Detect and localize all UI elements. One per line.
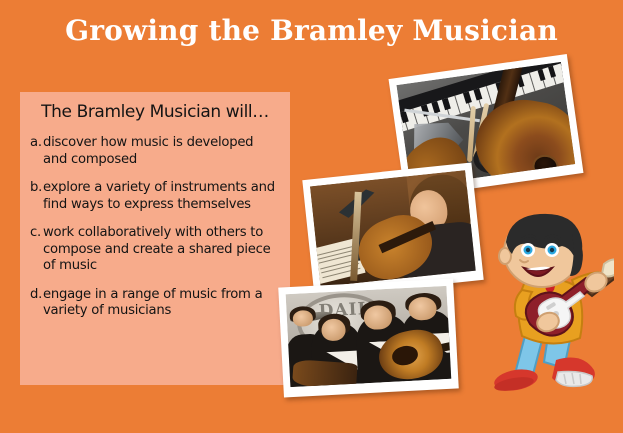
photo-beatles-image: DAILY Four-piece 1960s band in dark suit… <box>286 286 452 387</box>
cartoon-boy-guitarist: Cartoon boy with black hair playing a re… <box>486 212 614 397</box>
list-item: c. work collaboratively with others to c… <box>30 225 280 275</box>
panel-heading: The Bramley Musician will… <box>30 102 280 122</box>
list-item-text: explore a variety of instruments and fin… <box>43 180 280 213</box>
list-item: d. engage in a range of music from a var… <box>30 287 280 320</box>
list-item: b. explore a variety of instruments and … <box>30 180 280 213</box>
list-item-marker: b. <box>30 180 43 197</box>
photo-violin-image: Young violinist playing in an orchestra … <box>310 170 476 287</box>
objectives-panel: The Bramley Musician will… a. discover h… <box>20 92 290 385</box>
list-item: a. discover how music is developed and c… <box>30 135 280 168</box>
sound-hole <box>530 153 560 180</box>
photo-beatles: DAILY Four-piece 1960s band in dark suit… <box>278 278 459 397</box>
cartoon-boy-alt: Cartoon boy with black hair playing a re… <box>614 212 615 213</box>
list-item-marker: c. <box>30 225 43 242</box>
list-item-text: discover how music is developed and comp… <box>43 135 280 168</box>
band-member-head <box>293 310 313 327</box>
page-title: Growing the Bramley Musician <box>0 14 623 47</box>
head-group <box>499 214 583 287</box>
slide-canvas: Growing the Bramley Musician The Bramley… <box>0 0 623 433</box>
list-item-text: work collaboratively with others to comp… <box>43 225 280 275</box>
photo-violin: Young violinist playing in an orchestra … <box>302 162 483 297</box>
list-item-marker: d. <box>30 287 43 304</box>
cartoon-boy-svg <box>486 212 614 397</box>
list-item-text: engage in a range of music from a variet… <box>43 287 280 320</box>
bass-guitar-icon <box>292 359 358 387</box>
band-member-head <box>364 305 393 331</box>
list-item-marker: a. <box>30 135 43 152</box>
